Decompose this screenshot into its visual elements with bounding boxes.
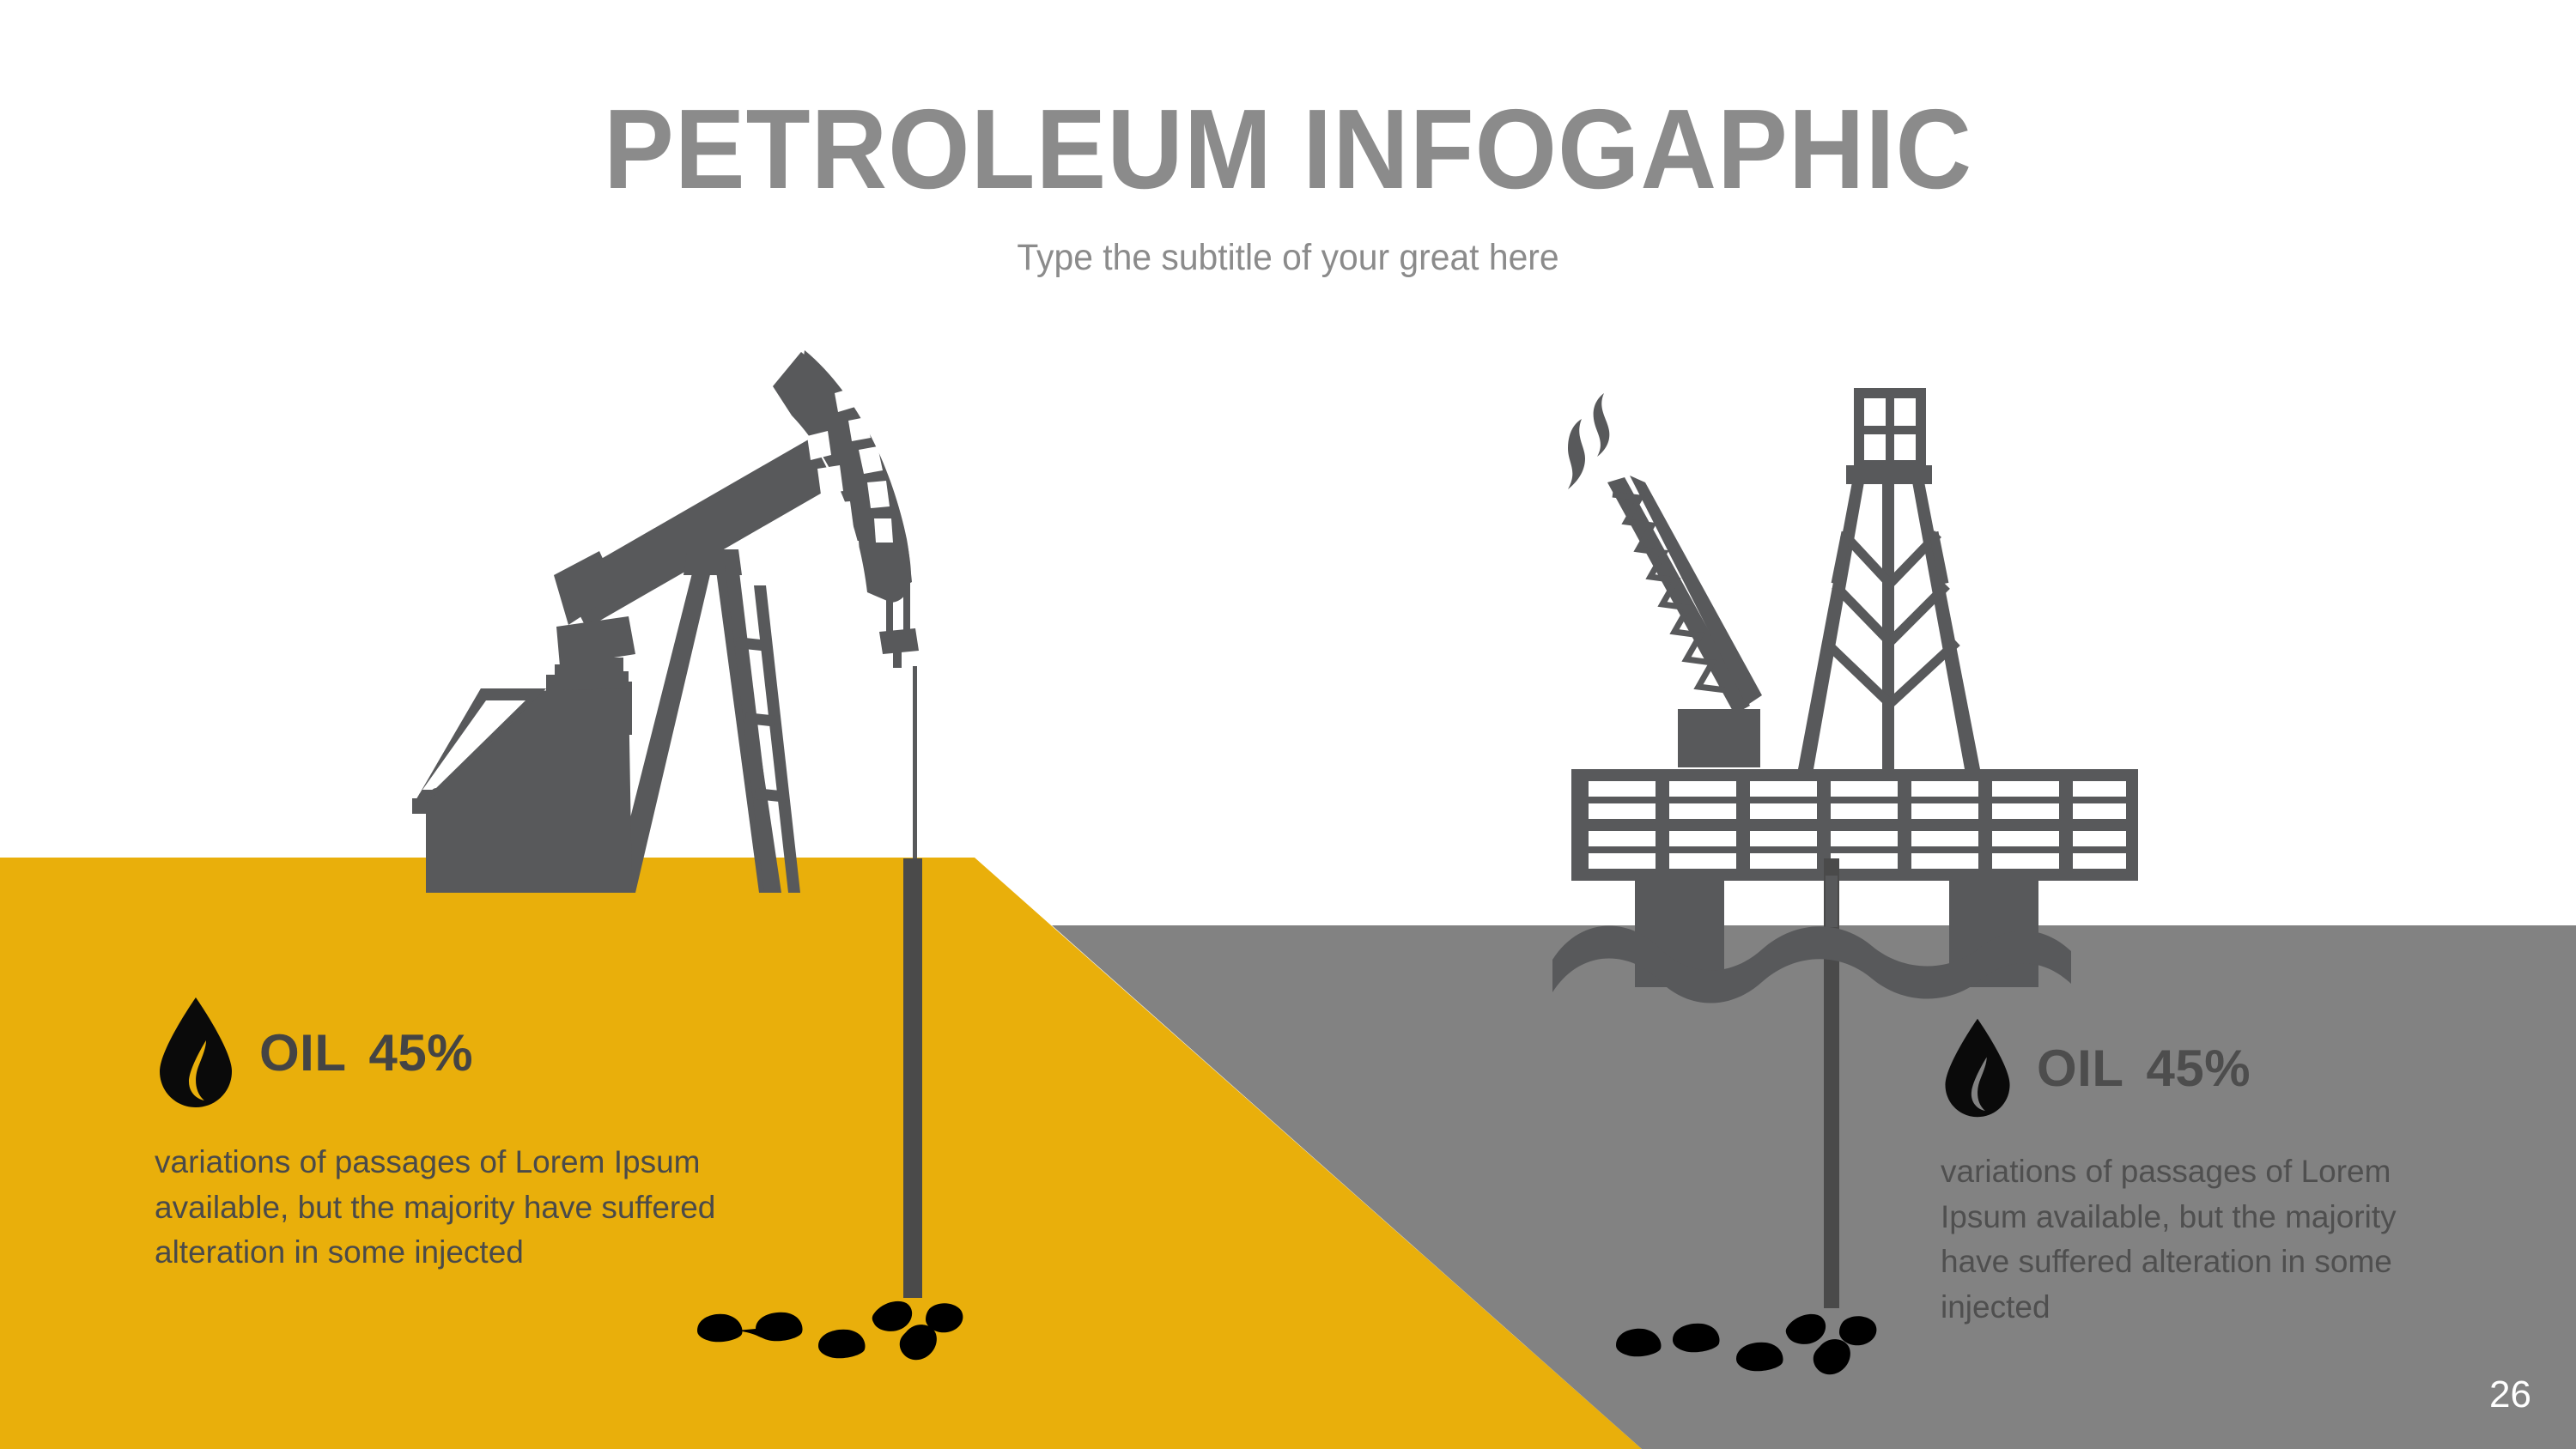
offshore-oil-droplets <box>1597 1292 1941 1455</box>
left-oil-label: OIL <box>259 1023 347 1082</box>
right-info-body: variations of passages of Lorem Ipsum av… <box>1941 1149 2464 1330</box>
left-info-body: variations of passages of Lorem Ipsum av… <box>155 1140 773 1276</box>
left-info-header: OIL 45% <box>155 996 807 1109</box>
offshore-oil-rig-illustration <box>1563 369 2164 987</box>
page-number: 26 <box>2489 1373 2531 1416</box>
oil-drop-icon <box>1941 1017 2014 1119</box>
slide-canvas: PETROLEUM INFOGAPHIC Type the subtitle o… <box>0 0 2576 1449</box>
page-title: PETROLEUM INFOGAPHIC <box>90 93 2486 206</box>
left-oil-label-group: OIL 45% <box>259 1023 473 1082</box>
left-info-block: OIL 45% variations of passages of Lorem … <box>155 996 807 1276</box>
onshore-pumpjack-illustration <box>378 335 979 901</box>
right-info-header: OIL 45% <box>1941 1017 2490 1119</box>
sea-wave-line <box>1546 910 2078 1004</box>
right-info-block: OIL 45% variations of passages of Lorem … <box>1941 1017 2490 1330</box>
onshore-oil-droplets <box>687 1279 1030 1442</box>
left-oil-value: 45% <box>369 1023 474 1082</box>
right-oil-label: OIL <box>2037 1039 2124 1098</box>
page-subtitle: Type the subtitle of your great here <box>64 237 2512 279</box>
right-oil-value: 45% <box>2147 1039 2251 1098</box>
oil-drop-icon <box>155 996 237 1109</box>
header: PETROLEUM INFOGAPHIC Type the subtitle o… <box>0 0 2576 279</box>
right-oil-label-group: OIL 45% <box>2037 1039 2251 1098</box>
onshore-drill-pipe <box>903 858 922 1298</box>
